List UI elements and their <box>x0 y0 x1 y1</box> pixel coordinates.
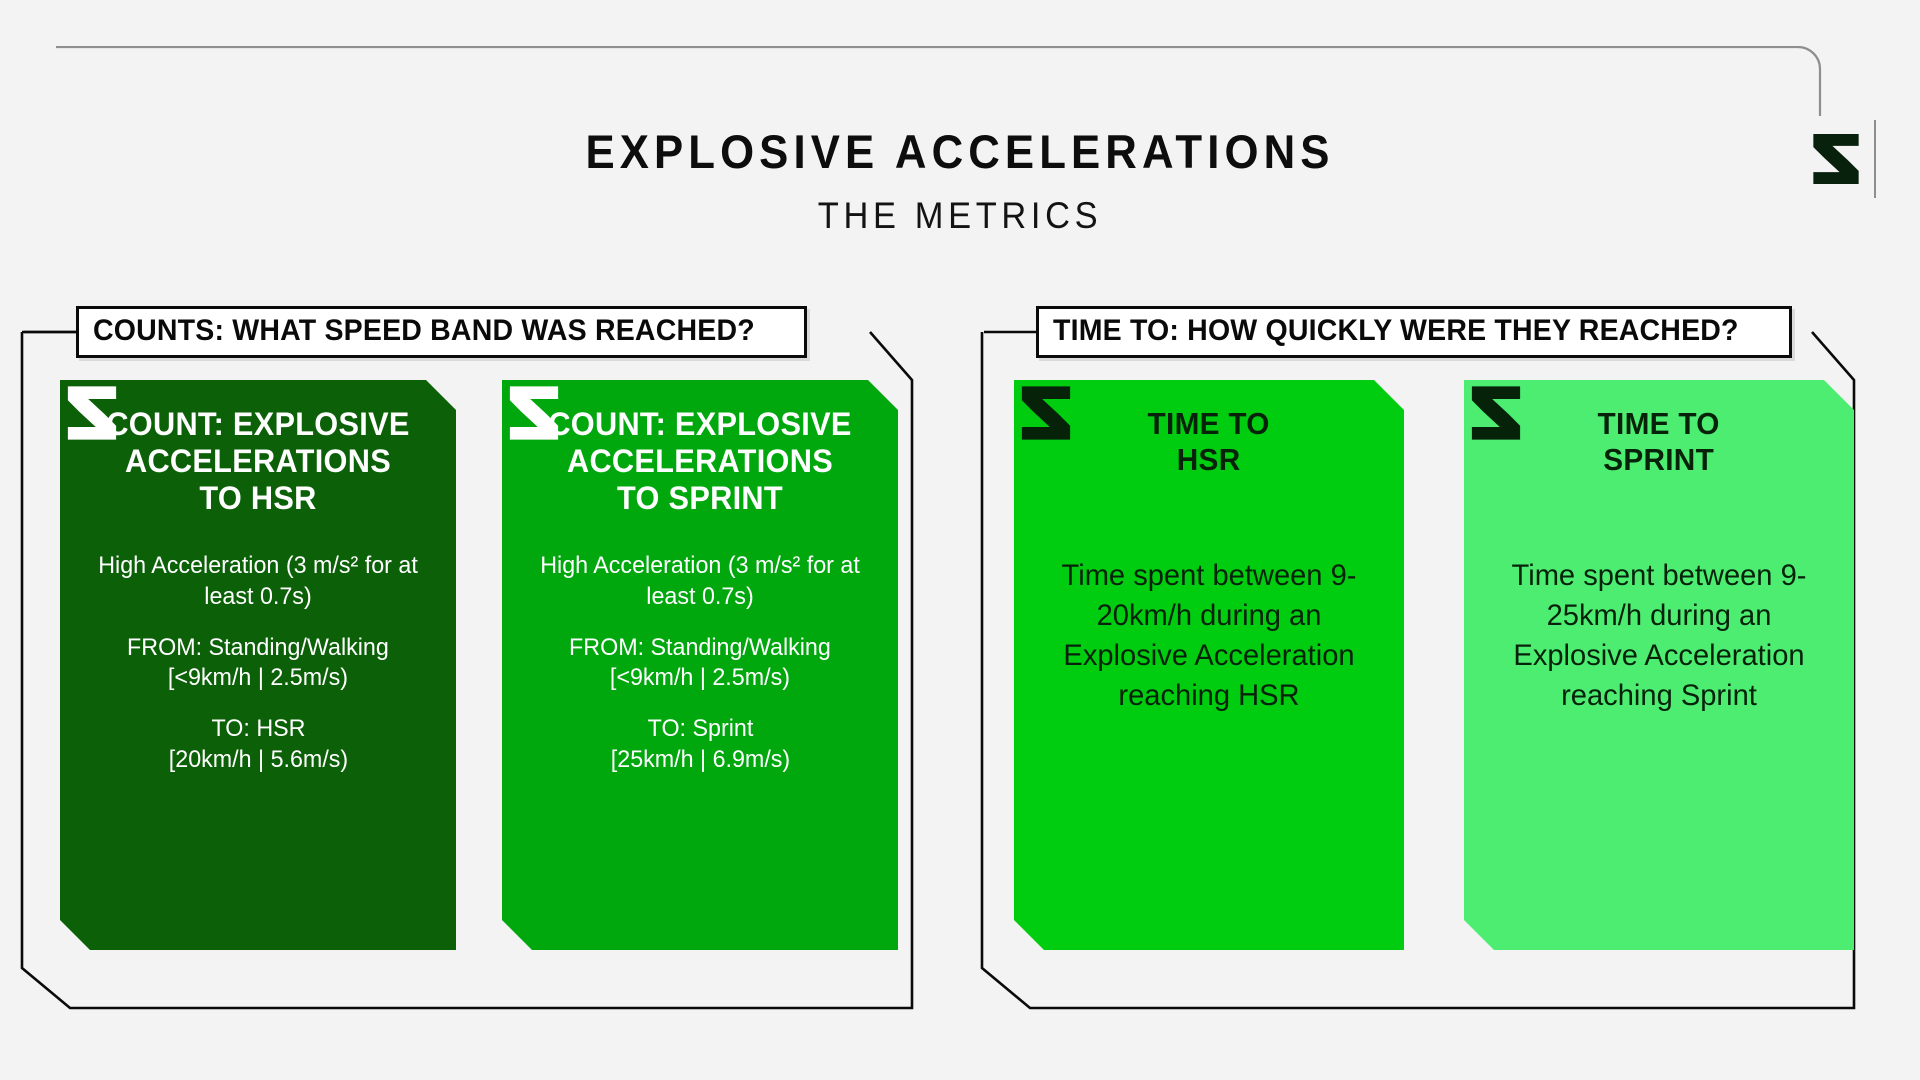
card-title-line: TO SPRINT <box>548 480 851 517</box>
page-header: EXPLOSIVE ACCELERATIONS THE METRICS <box>0 128 1920 234</box>
card-title-line: ACCELERATIONS <box>548 443 851 480</box>
card-title-line: COUNT: EXPLOSIVE <box>548 406 851 443</box>
card-body: Time spent between 9-20km/h during an Ex… <box>1036 556 1382 716</box>
top-decorative-rule <box>56 46 1856 116</box>
card-title: TIME TO SPRINT <box>1598 406 1720 478</box>
stats-s-logo-icon <box>60 380 124 446</box>
card-logo-wrap <box>82 904 434 930</box>
card-body: High Acceleration (3 m/s² for at least 0… <box>524 551 876 775</box>
card-count-explosive-accelerations-to-hsr[interactable]: COUNT: EXPLOSIVE ACCELERATIONS TO HSR Hi… <box>60 380 456 950</box>
card-time-to-sprint[interactable]: TIME TO SPRINT Time spent between 9-25km… <box>1464 380 1854 950</box>
card-paragraph: TO: HSR [20km/h | 5.6m/s) <box>168 714 347 775</box>
page-title: EXPLOSIVE ACCELERATIONS <box>67 128 1853 175</box>
card-title: COUNT: EXPLOSIVE ACCELERATIONS TO HSR <box>106 406 409 517</box>
card-logo-wrap <box>1036 904 1382 930</box>
card-paragraph: Time spent between 9-20km/h during an Ex… <box>1041 556 1377 716</box>
card-title-line: TIME TO <box>1598 406 1720 442</box>
card-paragraph: FROM: Standing/Walking [<9km/h | 2.5m/s) <box>569 633 831 694</box>
group-counts: COUNTS: WHAT SPEED BAND WAS REACHED? COU… <box>22 308 942 1008</box>
card-logo-wrap <box>524 904 876 930</box>
card-paragraph: Time spent between 9-25km/h during an Ex… <box>1491 556 1827 716</box>
stats-s-logo-icon <box>1014 380 1078 446</box>
page-subtitle: THE METRICS <box>67 197 1853 234</box>
card-paragraph: High Acceleration (3 m/s² for at least 0… <box>87 551 428 612</box>
card-time-to-hsr[interactable]: TIME TO HSR Time spent between 9-20km/h … <box>1014 380 1404 950</box>
card-title-line: TIME TO <box>1148 406 1270 442</box>
card-title-line: SPRINT <box>1598 442 1720 478</box>
group-time-to: TIME TO: HOW QUICKLY WERE THEY REACHED? … <box>982 308 1882 1008</box>
card-title: COUNT: EXPLOSIVE ACCELERATIONS TO SPRINT <box>548 406 851 517</box>
card-title: TIME TO HSR <box>1148 406 1270 478</box>
stats-s-logo-icon <box>502 380 566 446</box>
card-count-explosive-accelerations-to-sprint[interactable]: COUNT: EXPLOSIVE ACCELERATIONS TO SPRINT… <box>502 380 898 950</box>
group-time-to-label: TIME TO: HOW QUICKLY WERE THEY REACHED? <box>1036 306 1792 358</box>
card-title-line: ACCELERATIONS <box>106 443 409 480</box>
card-body: Time spent between 9-25km/h during an Ex… <box>1486 556 1832 716</box>
card-logo-wrap <box>1486 904 1832 930</box>
card-paragraph: FROM: Standing/Walking [<9km/h | 2.5m/s) <box>127 633 389 694</box>
card-body: High Acceleration (3 m/s² for at least 0… <box>82 551 434 775</box>
brand-divider <box>1874 120 1876 198</box>
stats-s-logo-icon <box>1464 380 1528 446</box>
card-title-line: HSR <box>1148 442 1270 478</box>
group-counts-label: COUNTS: WHAT SPEED BAND WAS REACHED? <box>76 306 807 358</box>
group-counts-label-text: COUNTS: WHAT SPEED BAND WAS REACHED? <box>93 314 755 348</box>
infographic-root: EXPLOSIVE ACCELERATIONS THE METRICS COUN… <box>0 0 1920 1080</box>
card-title-line: COUNT: EXPLOSIVE <box>106 406 409 443</box>
card-title-line: TO HSR <box>106 480 409 517</box>
group-time-to-label-text: TIME TO: HOW QUICKLY WERE THEY REACHED? <box>1053 314 1739 348</box>
card-paragraph: High Acceleration (3 m/s² for at least 0… <box>529 551 870 612</box>
stats-s-logo-icon <box>1806 128 1866 190</box>
card-paragraph: TO: Sprint [25km/h | 6.9m/s) <box>610 714 789 775</box>
